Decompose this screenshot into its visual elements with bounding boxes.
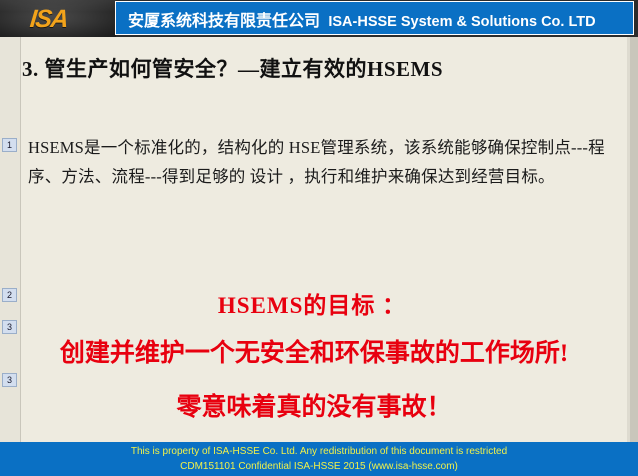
body-paragraph: HSEMS是一个标准化的，结构化的 HSE管理系统，该系统能够确保控制点---程… [28,133,614,191]
footer-copyright-line: This is property of ISA-HSSE Co. Ltd. An… [0,444,638,459]
presentation-slide: ISA 安厦系统科技有限责任公司 ISA-HSSE System & Solut… [0,0,638,476]
slide-header: ISA 安厦系统科技有限责任公司 ISA-HSSE System & Solut… [0,0,638,37]
footer-document-line: CDM151101 Confidential ISA-HSSE 2015 (ww… [0,459,638,474]
slide-body: 1 2 3 3 3. 管生产如何管安全？—建立有效的HSEMS HSEMS是一个… [0,37,638,442]
goal-heading: HSEMS的目标 ： [0,286,624,320]
company-title: 安厦系统科技有限责任公司 ISA-HSSE System & Solutions… [128,7,596,31]
animation-marker[interactable]: 3 [2,373,17,387]
company-title-bar: 安厦系统科技有限责任公司 ISA-HSSE System & Solutions… [115,1,634,35]
animation-marker[interactable]: 3 [2,320,17,334]
logo-panel: ISA [0,0,116,37]
company-title-en: ISA-HSSE System & Solutions Co. LTD [328,14,595,30]
animation-marker[interactable]: 1 [2,138,17,152]
slide-footer: This is property of ISA-HSSE Co. Ltd. An… [0,442,638,476]
slide-title: 3. 管生产如何管安全？—建立有效的HSEMS [22,53,443,83]
company-title-cn: 安厦系统科技有限责任公司 [128,13,320,30]
isa-logo-icon: ISA [28,5,68,34]
right-scroll-edge[interactable] [630,37,638,442]
goal-statement-2: 零意味着真的没有事故！ [0,387,628,423]
goal-statement-1: 创建并维护一个无安全和环保事故的工作场所! [0,333,628,369]
